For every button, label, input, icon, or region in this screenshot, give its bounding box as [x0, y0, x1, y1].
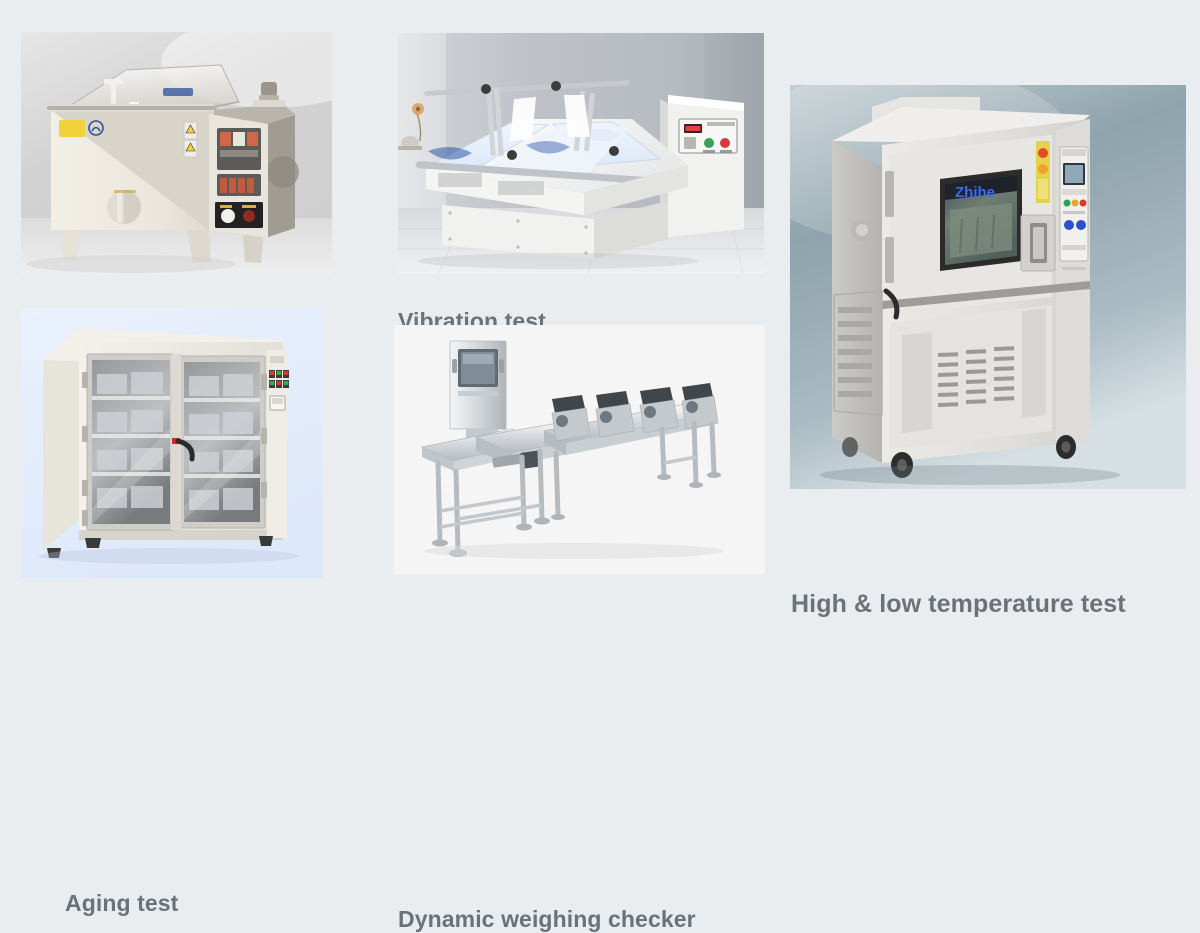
salt-spray-photo[interactable]	[21, 32, 332, 275]
caption-high-low-temperature: High & low temperature test	[791, 590, 1126, 619]
caption-dynamic-weighing: Dynamic weighing checker	[398, 906, 696, 933]
chamber-brand-label: Zhihe	[955, 184, 995, 201]
aging-photo[interactable]	[21, 308, 322, 578]
dynamic-weighing-photo[interactable]	[394, 325, 765, 574]
gallery-stage: Salt Spray test	[0, 0, 1200, 648]
caption-aging: Aging test	[65, 890, 178, 917]
vibration-photo[interactable]	[398, 33, 764, 274]
high-low-temperature-photo[interactable]: Zhihe	[790, 85, 1186, 489]
